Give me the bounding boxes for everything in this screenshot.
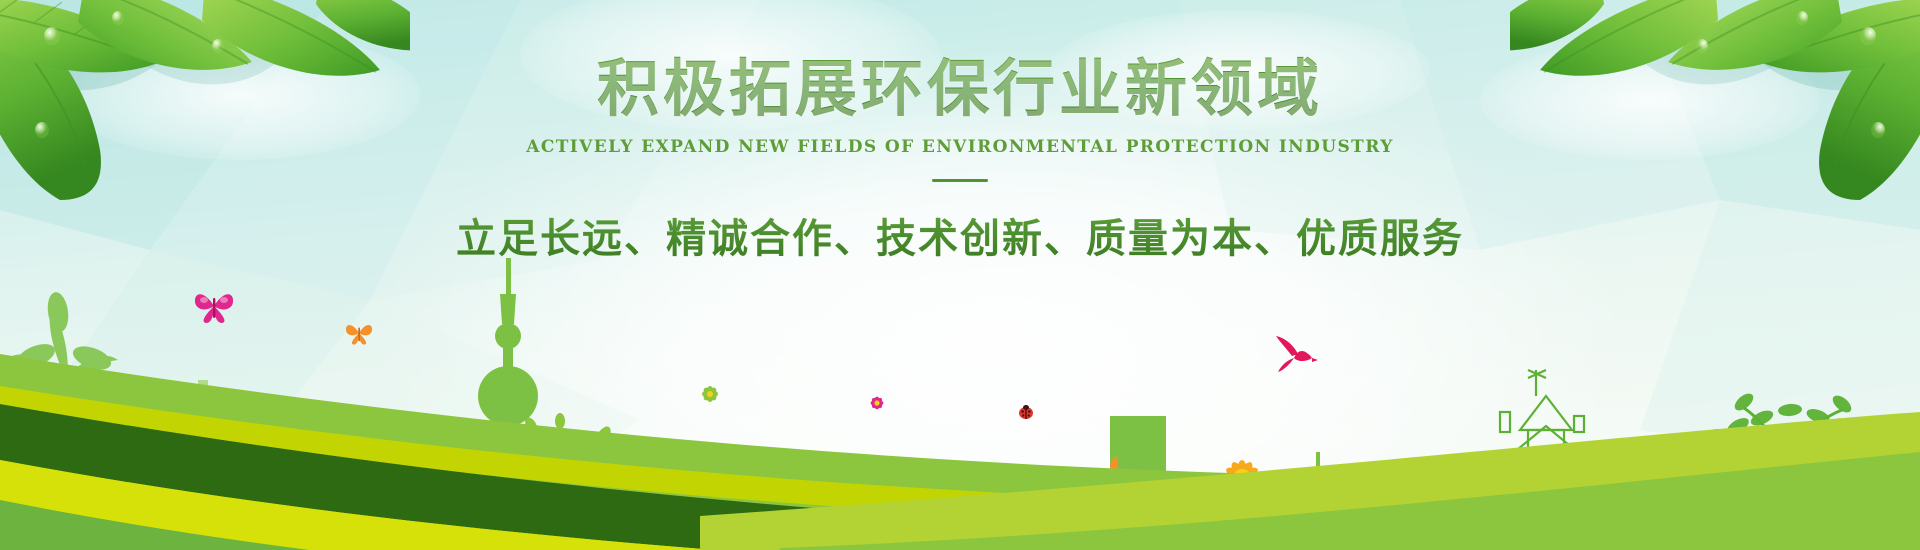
page-subtitle: ACTIVELY EXPAND NEW FIELDS OF ENVIRONMEN… <box>0 137 1920 157</box>
banner-text-block: 积极拓展环保行业新领域 ACTIVELY EXPAND NEW FIELDS O… <box>0 54 1920 264</box>
page-title: 积极拓展环保行业新领域 <box>0 54 1920 123</box>
title-divider <box>932 179 988 182</box>
page-tagline: 立足长远、精诚合作、技术创新、质量为本、优质服务 <box>0 206 1920 264</box>
ribbon-wave-icon <box>0 320 1920 550</box>
eco-banner: 积极拓展环保行业新领域 ACTIVELY EXPAND NEW FIELDS O… <box>0 0 1920 550</box>
